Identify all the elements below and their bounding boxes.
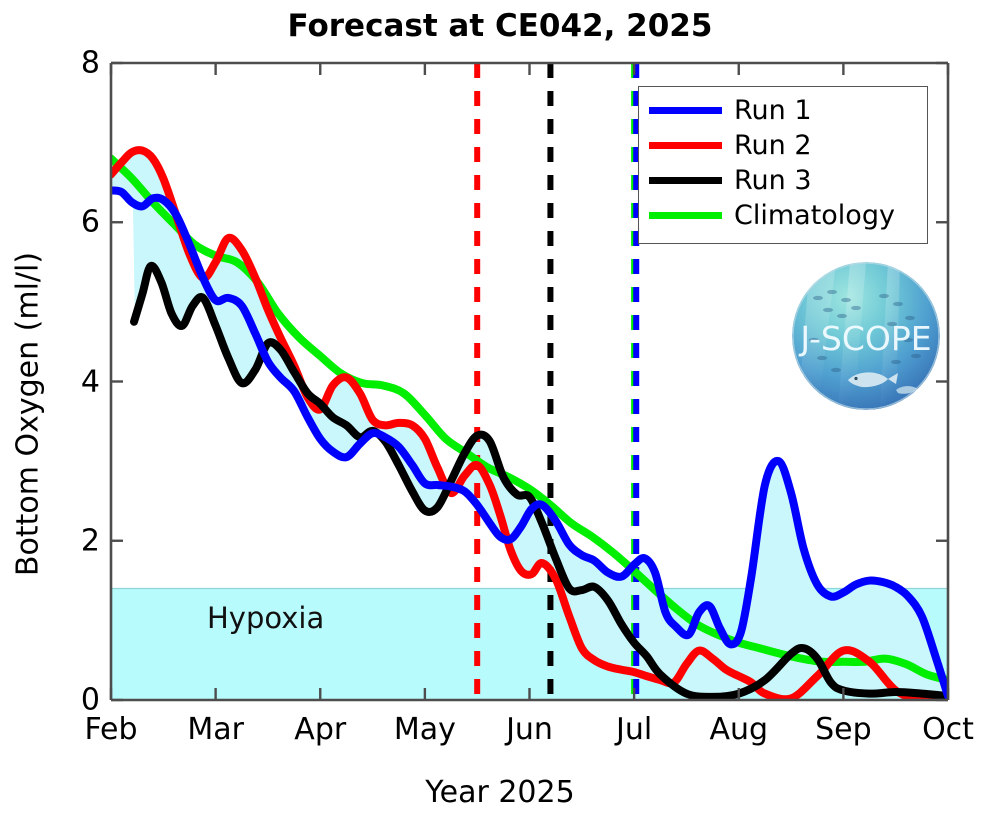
hypoxia-annotation: Hypoxia [207,601,324,635]
chart-legend[interactable]: Run 1Run 2Run 3Climatology [638,86,928,244]
legend-item-run-1[interactable]: Run 1 [647,93,919,128]
chart-root: Forecast at CE042, 2025 Bottom Oxygen (m… [0,0,1000,827]
legend-item-run-2[interactable]: Run 2 [647,128,919,163]
legend-item-run-3[interactable]: Run 3 [647,163,919,198]
legend-swatch-icon [649,212,722,219]
jscope-logo: J-SCOPE [792,262,940,410]
jscope-logo-text: J-SCOPE [798,319,931,358]
legend-label: Run 1 [734,97,812,124]
legend-swatch-icon [649,142,722,149]
legend-label: Run 3 [734,167,812,194]
legend-label: Climatology [734,202,895,229]
legend-swatch-icon [649,107,722,114]
legend-label: Run 2 [734,132,812,159]
legend-swatch-icon [649,177,722,184]
legend-item-climatology[interactable]: Climatology [647,198,919,233]
